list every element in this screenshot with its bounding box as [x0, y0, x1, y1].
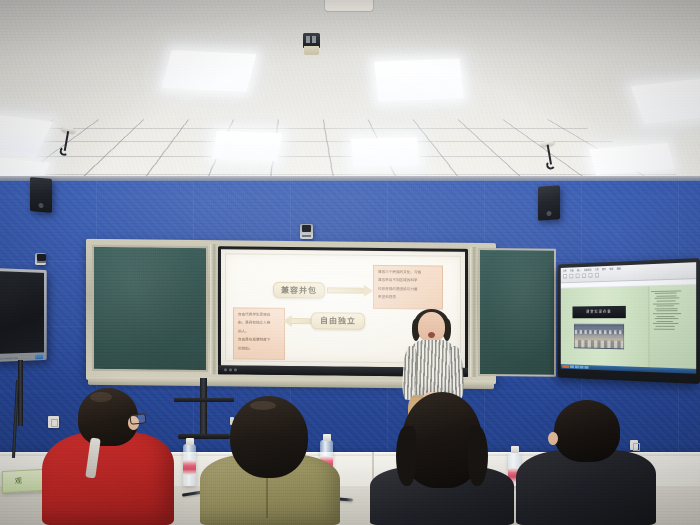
audience-hair: [554, 400, 620, 462]
audience-member-dark-coat: [520, 400, 652, 525]
bold-icon[interactable]: [563, 274, 567, 279]
document-title-banner: 课堂实录存查: [572, 305, 626, 317]
audience-ear: [548, 432, 558, 445]
monitor-badge-icon: [35, 354, 43, 359]
taskbar-app-icon[interactable]: [570, 365, 574, 368]
monitor-screen: 文件 开始 插入 页面布局 引用 邮件 审阅 视图: [561, 262, 696, 374]
wall-camera-icon: [35, 253, 46, 265]
document-title: 课堂实录存查: [586, 309, 612, 315]
presenter-mouth: [428, 332, 435, 338]
taskbar-app-icon[interactable]: [584, 366, 588, 369]
audience-hair: [402, 392, 482, 488]
slide-node-primary: 兼容并包: [273, 282, 325, 299]
table-icon[interactable]: [595, 273, 599, 278]
glasses-icon: [130, 413, 147, 425]
wall-camera-icon: [300, 224, 313, 239]
board-slide-rail: [210, 244, 217, 374]
slide-text-line: 的自由。: [238, 346, 280, 352]
wall-speaker-left: [30, 177, 52, 213]
water-bottle: [183, 444, 196, 486]
slide-text-line: 自由是在规章制度下: [238, 338, 280, 344]
ribbon-tab[interactable]: 邮件: [602, 267, 606, 271]
bottle-cap: [186, 438, 194, 445]
audience-member-long-hair: [372, 392, 512, 525]
display-monitor-left[interactable]: LCD MONITOR: [0, 268, 47, 362]
align-icon[interactable]: [582, 273, 586, 278]
name-placard: 观: [2, 469, 44, 493]
slide-text-line: 自由代表学生思想自: [238, 312, 280, 318]
taskbar-app-icon[interactable]: [580, 366, 584, 369]
start-button-icon[interactable]: [562, 365, 569, 368]
ceiling-light-panel: [161, 50, 256, 92]
slide-arrow-left: [291, 318, 311, 324]
monitor-frame: 文件 开始 插入 页面布局 引用 邮件 审阅 视图: [558, 258, 700, 384]
ceiling-light-panel: [631, 78, 700, 124]
ribbon-tab[interactable]: 页面布局: [584, 268, 592, 272]
slide-text-line: 的人。: [238, 329, 280, 335]
ceiling-projector-icon: [303, 33, 320, 48]
ceiling-vent: [324, 0, 374, 12]
wall-ceiling-edge: [0, 176, 700, 181]
monitor-brand-label: LCD MONITOR: [0, 356, 18, 361]
monitor-frame: LCD MONITOR: [0, 268, 47, 362]
taskbar-app-icon[interactable]: [575, 366, 579, 369]
ribbon-tab[interactable]: 文件: [563, 269, 567, 273]
slide-text-line: 希望和感恩: [378, 295, 438, 301]
document-embedded-photo: [574, 324, 624, 349]
word-document-page[interactable]: 课堂实录存查: [561, 286, 649, 372]
monitor-screen-off: [0, 271, 44, 354]
green-chalkboard-right: [478, 248, 556, 377]
slide-text-line: 由，是具有独立人格: [238, 321, 280, 327]
display-monitor-right[interactable]: 文件 开始 插入 页面布局 引用 邮件 审阅 视图: [558, 258, 700, 384]
bottle-label: [183, 460, 196, 475]
slide-textbox-right: 兼容三个民族的文化、习俗 兼容来自不同区域的科学 校慈善捐的是团结与力量 希望和…: [373, 265, 443, 310]
board-slide-rail: [470, 247, 477, 377]
slide-arrow-right: [327, 287, 365, 293]
monitor-left-stand: [18, 360, 23, 426]
ceiling: [0, 0, 700, 186]
ribbon-tab[interactable]: 引用: [595, 267, 599, 271]
list-icon[interactable]: [588, 273, 592, 278]
slide-node-secondary: 自由独立: [311, 312, 365, 330]
ribbon-tab[interactable]: 插入: [577, 268, 581, 272]
slide-textbox-left: 自由代表学生思想自 由，是具有独立人格 的人。 自由是在规章制度下 的自由。: [233, 307, 285, 359]
wall-speaker-right: [538, 185, 560, 221]
slide-text-line: 兼容来自不同区域的科学: [378, 278, 438, 284]
ceiling-light-panel: [212, 131, 283, 161]
slide-text-line: 校慈善捐的是团结与力量: [378, 287, 438, 293]
green-chalkboard-left: [92, 245, 208, 372]
ribbon-tab[interactable]: 开始: [570, 268, 574, 272]
ceiling-light-panel: [351, 137, 419, 167]
underline-icon[interactable]: [576, 274, 580, 279]
italic-icon[interactable]: [569, 274, 573, 279]
classroom-photo: 兼容三个民族的文化、习俗 兼容来自不同区域的科学 校慈善捐的是团结与力量 希望和…: [0, 0, 700, 525]
presenter-head: [418, 312, 445, 343]
audience-member-red-jacket: [42, 388, 174, 525]
ceiling-light-panel: [374, 58, 464, 101]
ribbon-tab[interactable]: 视图: [617, 266, 621, 270]
document-outline-pane[interactable]: [648, 285, 696, 374]
whiteboard-buttons[interactable]: [224, 368, 237, 371]
slide-text-line: 兼容三个民族的文化、习俗: [378, 270, 438, 276]
ribbon-tab[interactable]: 审阅: [609, 267, 613, 271]
audience-member-olive-jacket: [200, 396, 340, 525]
audience-hair: [230, 396, 308, 478]
